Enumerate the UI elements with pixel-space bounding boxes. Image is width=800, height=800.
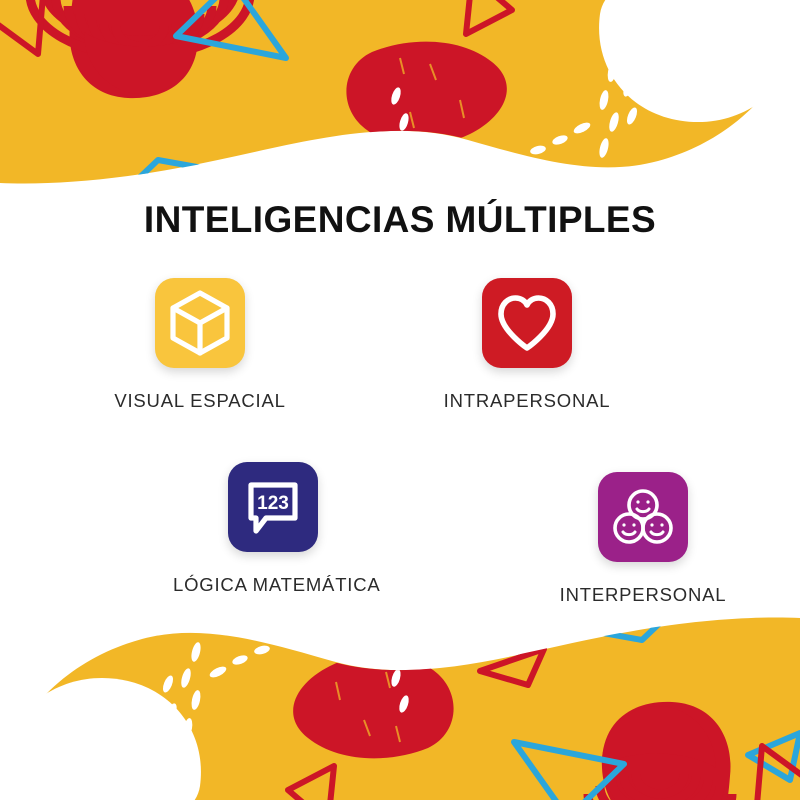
bottom-decorative-band [0,605,800,800]
red-triangle-outline [288,649,800,800]
intelligence-card-intrapersonal[interactable]: INTRAPERSONAL [427,278,627,412]
intelligence-card-interpersonal[interactable]: INTERPERSONAL [543,472,743,606]
caption-interpersonal: INTERPERSONAL [543,584,743,606]
tile-logica-matematica[interactable]: 123 [228,462,318,552]
red-blob-shape-2 [346,42,506,146]
heart-icon [496,294,558,352]
red-blob-shape-2 [293,655,453,759]
cube-icon [169,290,231,356]
speech-bubble-123-icon: 123 [242,476,304,538]
intelligence-card-visual-espacial[interactable]: VISUAL ESPACIAL [100,278,300,412]
red-blob-shape [602,702,731,800]
red-concentric-arcs [30,0,250,56]
blue-triangle-outline [116,0,286,195]
page-title: INTELIGENCIAS MÚLTIPLES [0,199,800,241]
blue-triangle-outline [514,605,800,800]
red-concentric-arcs [550,774,770,800]
intelligence-card-logica-matematica[interactable]: 123 LÓGICA MATEMÁTICA [173,462,373,596]
caption-visual-espacial: VISUAL ESPACIAL [100,390,300,412]
top-decorative-band [0,0,800,195]
red-blob-shape [69,0,198,98]
caption-logica-matematica: LÓGICA MATEMÁTICA [173,574,373,596]
yellow-wave-shape [0,0,800,183]
tile-interpersonal[interactable] [598,472,688,562]
white-dashes [381,61,639,183]
caption-intrapersonal: INTRAPERSONAL [427,390,627,412]
white-dashes [161,617,419,739]
tile-intrapersonal[interactable] [482,278,572,368]
red-triangle-outline [0,0,512,54]
three-smiley-faces-icon [612,487,674,547]
yellow-wave-shape [0,618,800,800]
speech-bubble-number-text: 123 [257,493,289,514]
tile-visual-espacial[interactable] [155,278,245,368]
poster-canvas: INTELIGENCIAS MÚLTIPLES VISUAL ESPACIAL … [0,0,800,800]
